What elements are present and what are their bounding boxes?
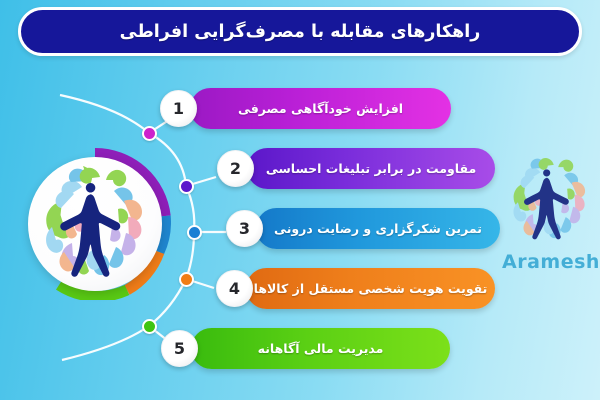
aramesh-logo	[19, 148, 171, 300]
node-dot-4	[179, 272, 194, 287]
node-dot-3	[187, 225, 202, 240]
step-label-4: تقویت هویت شخصی مستقل از کالاها	[238, 281, 504, 296]
step-number-1[interactable]: 1	[160, 90, 197, 127]
step-pill-1[interactable]: افزایش خودآگاهی مصرفی	[190, 88, 451, 129]
step-pill-3[interactable]: تمرین شکرگزاری و رضایت درونی	[256, 208, 500, 249]
step-row-1: افزایش خودآگاهی مصرفی 1	[190, 88, 451, 129]
step-pill-4[interactable]: تقویت هویت شخصی مستقل از کالاها	[246, 268, 495, 309]
step-label-3: تمرین شکرگزاری و رضایت درونی	[258, 221, 498, 236]
step-number-5[interactable]: 5	[161, 330, 198, 367]
step-row-4: تقویت هویت شخصی مستقل از کالاها 4	[246, 268, 495, 309]
step-number-2[interactable]: 2	[217, 150, 254, 187]
step-row-3: تمرین شکرگزاری و رضایت درونی 3	[256, 208, 500, 249]
node-dot-5	[142, 319, 157, 334]
infographic-canvas: راهکارهای مقابله با مصرف‌گرایی افراطی اف…	[0, 0, 600, 400]
step-label-1: افزایش خودآگاهی مصرفی	[222, 101, 419, 116]
step-label-5: مدیریت مالی آگاهانه	[242, 341, 400, 356]
watermark-logo-icon	[500, 150, 600, 250]
logo-figure-icon	[28, 157, 162, 291]
node-dot-2	[179, 179, 194, 194]
step-number-3[interactable]: 3	[226, 210, 263, 247]
watermark: Aramesh.	[500, 150, 600, 290]
step-number-4[interactable]: 4	[216, 270, 253, 307]
step-pill-2[interactable]: مقاومت در برابر تبلیغات احساسی	[247, 148, 495, 189]
step-row-2: مقاومت در برابر تبلیغات احساسی 2	[247, 148, 495, 189]
step-pill-5[interactable]: مدیریت مالی آگاهانه	[191, 328, 450, 369]
step-label-2: مقاومت در برابر تبلیغات احساسی	[250, 161, 492, 176]
watermark-text: Aramesh.	[502, 251, 600, 273]
step-row-5: مدیریت مالی آگاهانه 5	[191, 328, 450, 369]
node-dot-1	[142, 126, 157, 141]
